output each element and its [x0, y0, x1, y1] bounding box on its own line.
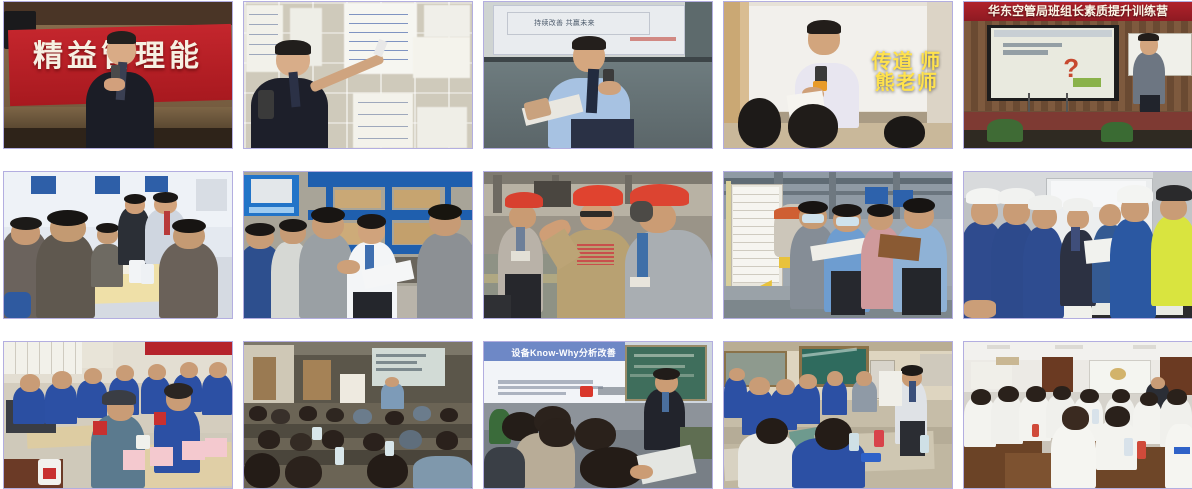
image-result-3[interactable]: 持续改善 共赢未来 — [483, 1, 713, 149]
image-result-5[interactable]: 华东空管局班组长素质提升训练营 ? — [963, 1, 1192, 149]
photo-thumbnail — [964, 342, 1192, 488]
image-result-11[interactable] — [3, 341, 233, 489]
photo-thumbnail: 持续改善 共赢未来 — [484, 2, 712, 148]
image-result-12[interactable] — [243, 341, 473, 489]
image-result-14[interactable] — [723, 341, 953, 489]
image-result-7[interactable] — [243, 171, 473, 319]
photo-thumbnail: 精益管理能 — [4, 2, 232, 148]
image-result-13[interactable]: 设备Know-Why分析改善 — [483, 341, 713, 489]
photo-thumbnail — [724, 342, 952, 488]
photo-thumbnail — [244, 342, 472, 488]
photo-thumbnail: 设备Know-Why分析改善 — [484, 342, 712, 488]
image-result-9[interactable] — [723, 171, 953, 319]
image-result-10[interactable] — [963, 171, 1192, 319]
photo-thumbnail — [724, 172, 952, 318]
image-result-15[interactable] — [963, 341, 1192, 489]
photo-thumbnail — [244, 172, 472, 318]
image-result-1[interactable]: 精益管理能 — [3, 1, 233, 149]
photo-thumbnail — [4, 342, 232, 488]
photo-thumbnail — [4, 172, 232, 318]
image-caption-overlay-5: 华东空管局班组长素质提升训练营 — [964, 4, 1192, 18]
photo-thumbnail — [964, 172, 1192, 318]
image-result-8[interactable] — [483, 171, 713, 319]
image-caption-overlay-13: 设备Know-Why分析改善 — [511, 346, 616, 359]
image-result-4[interactable]: 传道 师 熊老师 — [723, 1, 953, 149]
image-result-2[interactable] — [243, 1, 473, 149]
photo-thumbnail — [484, 172, 712, 318]
photo-thumbnail: 华东空管局班组长素质提升训练营 ? — [964, 2, 1192, 148]
photo-thumbnail: 传道 师 熊老师 — [724, 2, 952, 148]
photo-thumbnail — [244, 2, 472, 148]
image-results-grid: 精益管理能 — [0, 0, 1192, 488]
image-caption-overlay-4: 传道 师 熊老师 — [865, 52, 947, 94]
image-result-6[interactable] — [3, 171, 233, 319]
